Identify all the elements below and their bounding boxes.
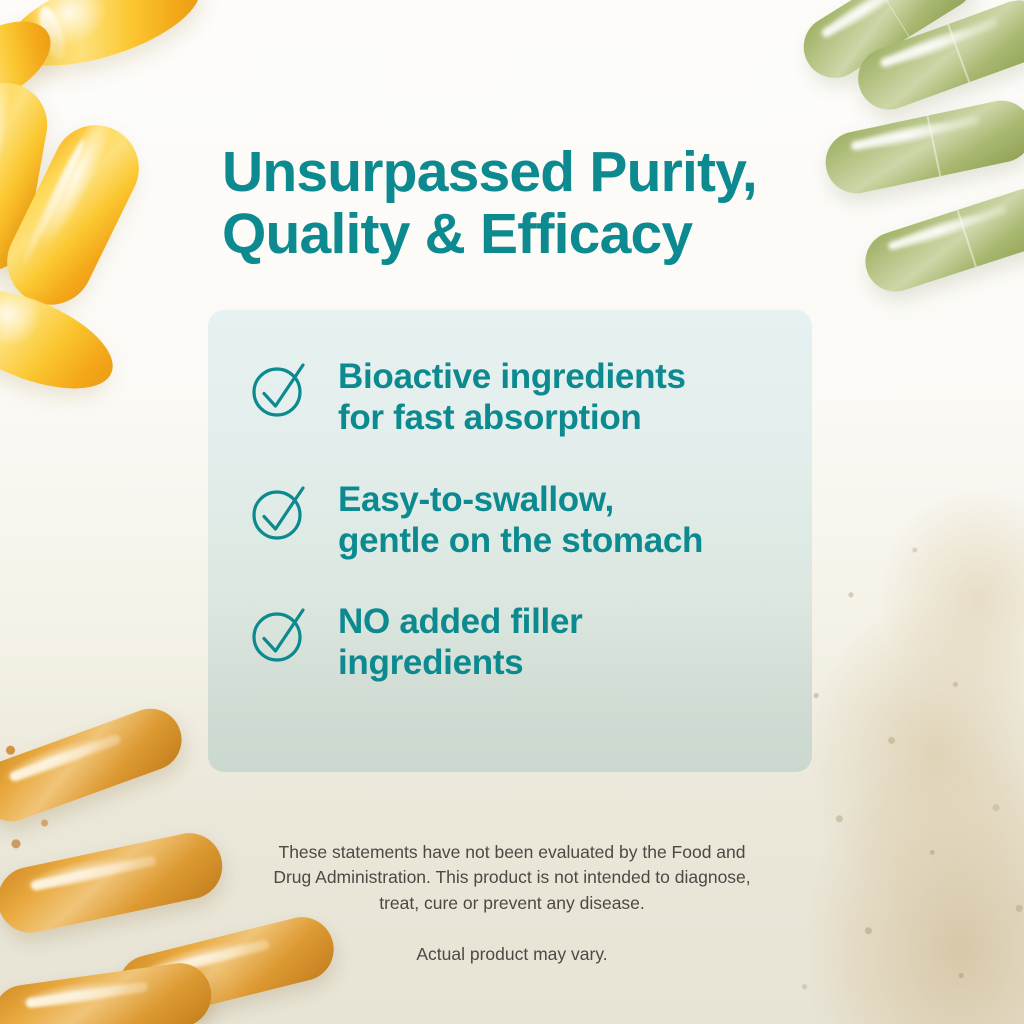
check-circle-icon bbox=[248, 603, 310, 665]
fda-disclaimer-line-1: These statements have not been evaluated… bbox=[279, 842, 746, 862]
softgel-capsule bbox=[0, 111, 153, 319]
spilled-powder bbox=[0, 732, 60, 862]
benefit-item-line-1: NO added filler bbox=[338, 601, 582, 642]
product-variation-note: Actual product may vary. bbox=[192, 942, 832, 967]
fda-disclaimer-line-2: Drug Administration. This product is not… bbox=[273, 867, 750, 887]
green-capsule bbox=[792, 0, 986, 90]
benefit-item-line-2: for fast absorption bbox=[338, 397, 686, 438]
turmeric-capsule bbox=[0, 700, 190, 830]
softgel-capsule bbox=[0, 76, 54, 278]
benefit-item: Easy-to-swallow, gentle on the stomach bbox=[248, 477, 788, 562]
turmeric-capsule bbox=[0, 959, 215, 1024]
softgel-capsule bbox=[0, 269, 126, 409]
benefits-card: Bioactive ingredients for fast absorptio… bbox=[208, 310, 812, 772]
disclaimer: These statements have not been evaluated… bbox=[192, 840, 832, 968]
page-title-line-2: Quality & Efficacy bbox=[222, 204, 842, 266]
benefit-item-label: Bioactive ingredients for fast absorptio… bbox=[338, 354, 686, 439]
benefit-item-line-1: Easy-to-swallow, bbox=[338, 479, 703, 520]
green-capsule bbox=[858, 181, 1024, 300]
softgel-capsule bbox=[0, 0, 211, 85]
page-title-line-1: Unsurpassed Purity, bbox=[222, 142, 842, 204]
benefit-item-line-2: ingredients bbox=[338, 642, 582, 683]
check-circle-icon bbox=[248, 358, 310, 420]
benefit-item-label: NO added filler ingredients bbox=[338, 599, 582, 684]
green-capsule bbox=[820, 95, 1024, 199]
softgel-capsule bbox=[0, 4, 64, 121]
fda-disclaimer: These statements have not been evaluated… bbox=[192, 840, 832, 916]
page-title: Unsurpassed Purity, Quality & Efficacy bbox=[222, 142, 842, 265]
benefit-item-label: Easy-to-swallow, gentle on the stomach bbox=[338, 477, 703, 562]
promo-graphic: Unsurpassed Purity, Quality & Efficacy B… bbox=[0, 0, 1024, 1024]
benefit-item-line-1: Bioactive ingredients bbox=[338, 356, 686, 397]
check-circle-icon bbox=[248, 481, 310, 543]
benefit-item-line-2: gentle on the stomach bbox=[338, 520, 703, 561]
green-capsule bbox=[849, 0, 1024, 118]
benefits-list: Bioactive ingredients for fast absorptio… bbox=[248, 354, 788, 684]
benefit-item: Bioactive ingredients for fast absorptio… bbox=[248, 354, 788, 439]
benefit-item: NO added filler ingredients bbox=[248, 599, 788, 684]
fda-disclaimer-line-3: treat, cure or prevent any disease. bbox=[379, 893, 645, 913]
